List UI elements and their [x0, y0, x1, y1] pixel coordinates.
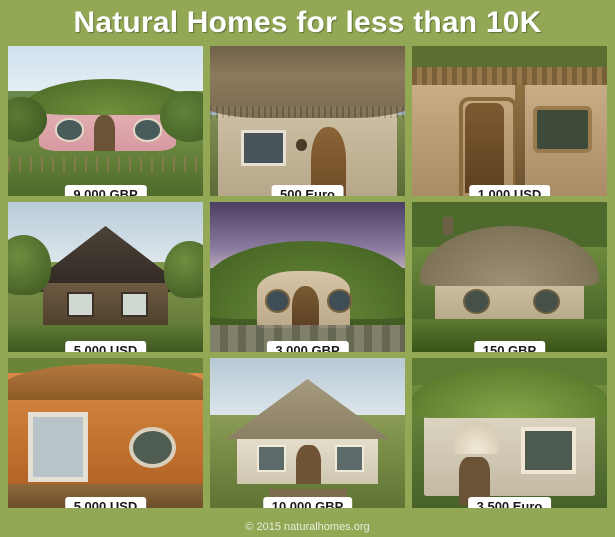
window [241, 130, 286, 166]
price-caption: 5,000 USD [65, 497, 147, 508]
tree [164, 241, 203, 298]
photo-adobe-house [412, 46, 607, 196]
price-caption: 9,000 GBP [64, 185, 146, 196]
poster: Natural Homes for less than 10K 9,000 GB… [0, 0, 615, 537]
fence [8, 157, 203, 172]
photo-cell[interactable]: 5,000 USD [8, 358, 203, 508]
photo-cell[interactable]: 3,500 Euro [412, 358, 607, 508]
photo-thatched-roundhouse [412, 202, 607, 352]
door [296, 445, 321, 484]
window [533, 289, 560, 314]
photo-orange-cob-house [8, 358, 203, 508]
door [94, 115, 115, 151]
roof [8, 364, 203, 400]
photo-cell[interactable]: 10,000 GBP [210, 358, 405, 508]
price-caption: 3,000 GBP [266, 341, 348, 352]
window [133, 118, 162, 142]
window [121, 292, 148, 317]
door [292, 286, 319, 328]
photo-green-roof-cottage [412, 358, 607, 508]
shell-window [455, 421, 498, 454]
price-caption: 5,000 USD [65, 341, 147, 352]
photo-cell[interactable]: 9,000 GBP [8, 46, 203, 196]
price-caption: 500 Euro [271, 185, 344, 196]
credit-line: © 2015 naturalhomes.org [0, 521, 615, 533]
photo-cell[interactable]: 1,000 USD [412, 46, 607, 196]
door [465, 103, 504, 193]
window [55, 118, 84, 142]
price-caption: 150 GBP [474, 341, 545, 352]
window [327, 289, 352, 313]
roof-beams [412, 67, 607, 85]
post [515, 85, 525, 196]
photo-timber-house [8, 202, 203, 352]
page-title: Natural Homes for less than 10K [0, 0, 615, 46]
photo-grid: 9,000 GBP 500 Euro [8, 46, 607, 508]
photo-cell[interactable]: 5,000 USD [8, 202, 203, 352]
photo-cell[interactable]: 150 GBP [412, 202, 607, 352]
window [521, 427, 576, 474]
photo-thatched-cottage [210, 46, 405, 196]
photo-cell[interactable]: 3,000 GBP [210, 202, 405, 352]
window [265, 289, 290, 313]
window [335, 445, 364, 472]
price-caption: 3,500 Euro [468, 497, 552, 508]
price-caption: 10,000 GBP [263, 497, 353, 508]
photo-white-cob-house [210, 358, 405, 508]
window [28, 412, 89, 482]
photo-cell[interactable]: 500 Euro [210, 46, 405, 196]
round-window [129, 427, 176, 468]
window [463, 289, 490, 314]
price-caption: 1,000 USD [469, 185, 551, 196]
wall [43, 283, 168, 328]
window [533, 106, 592, 153]
photo-hobbit-house [210, 202, 405, 352]
window [67, 292, 94, 317]
window [257, 445, 286, 472]
chimney [443, 217, 453, 235]
thatched-roof [210, 46, 405, 118]
photo-pink-cob-house [8, 46, 203, 196]
